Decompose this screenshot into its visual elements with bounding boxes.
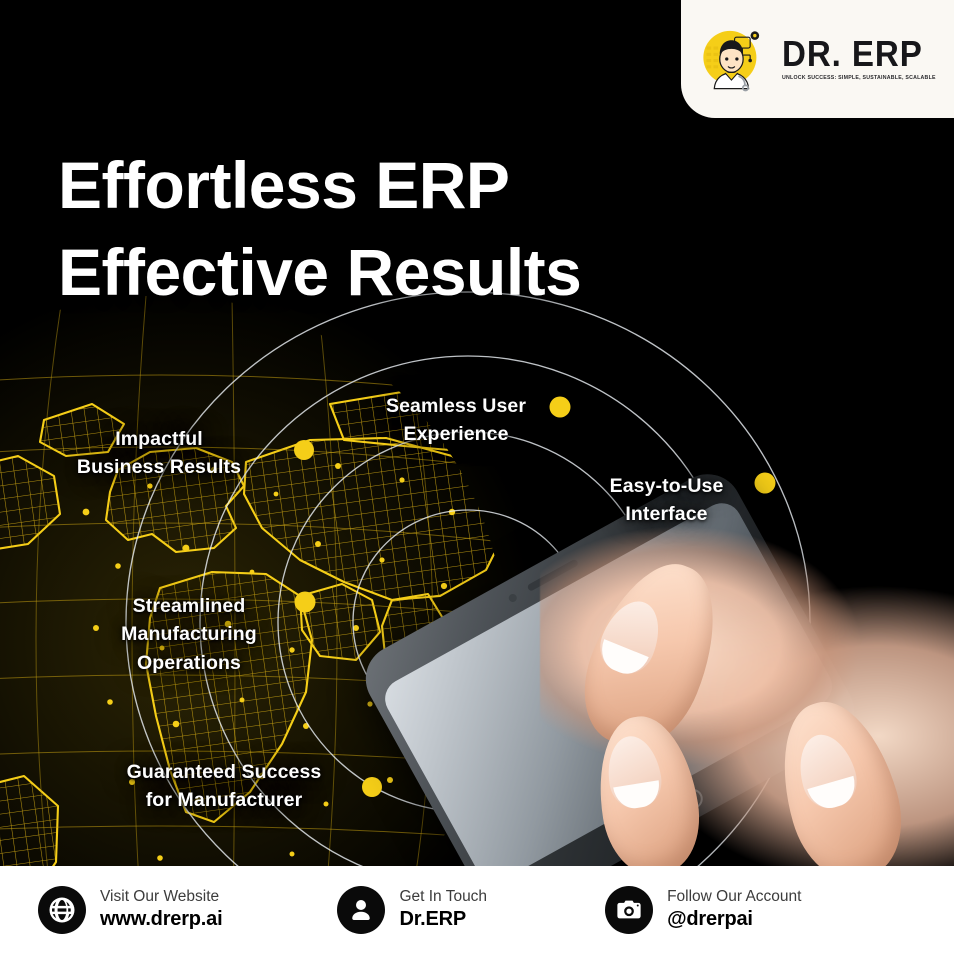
headline-line-2: Effective Results [58,229,581,316]
footer-value: www.drerp.ai [100,907,222,931]
feature-label-guaranteed-success-for-manufacturer: Guaranteed Success for Manufacturer [110,758,338,815]
logo-badge[interactable]: DR. ERP UNLOCK SUCCESS: SIMPLE, SUSTAINA… [681,0,954,118]
node-seamless-user-experience [550,397,571,418]
logo-tagline: UNLOCK SUCCESS: SIMPLE, SUSTAINABLE, SCA… [782,75,936,81]
feature-line: Impactful [64,425,254,453]
feature-line: Streamlined [108,592,270,620]
footer-item-contact[interactable]: Get In Touch Dr.ERP [337,886,487,934]
footer-label: Visit Our Website [100,888,222,907]
footer-label: Follow Our Account [667,888,801,907]
footer-item-social[interactable]: Follow Our Account @drerpai [605,886,801,934]
logo-wordmark: DR. ERP [782,37,923,71]
feature-line: Business Results [64,453,254,481]
footer-value: @drerpai [667,907,801,931]
globe-icon [38,886,86,934]
headline: Effortless ERP Effective Results [58,142,581,316]
person-icon [337,886,385,934]
footer-text-website: Visit Our Website www.drerp.ai [100,888,222,931]
feature-line: Operations [108,649,270,677]
feature-line: Easy-to-Use [599,472,734,500]
logo-text-block: DR. ERP UNLOCK SUCCESS: SIMPLE, SUSTAINA… [782,37,941,80]
node-guaranteed-success [362,777,382,797]
camera-icon [605,886,653,934]
footer-text-contact: Get In Touch Dr.ERP [399,888,487,931]
node-easy-to-use-interface [755,473,776,494]
feature-line: for Manufacturer [110,786,338,814]
contact-footer: Visit Our Website www.drerp.ai Get In To… [0,866,954,954]
dr-erp-doctor-mascot-icon [694,23,772,95]
feature-label-easy-to-use-interface: Easy-to-Use Interface [599,472,734,529]
feature-label-streamlined-manufacturing-operations: Streamlined Manufacturing Operations [108,592,270,677]
feature-line: Experience [386,420,526,448]
footer-label: Get In Touch [399,888,487,907]
feature-label-seamless-user-experience: Seamless User Experience [386,392,526,449]
feature-line: Manufacturing [108,620,270,648]
promotional-poster: Effortless ERP Effective Results Seamles… [0,0,954,954]
feature-label-impactful-business-results: Impactful Business Results [64,425,254,482]
headline-line-1: Effortless ERP [58,142,581,229]
node-impactful-business-results [294,440,314,460]
footer-item-website[interactable]: Visit Our Website www.drerp.ai [38,886,222,934]
feature-line: Interface [599,500,734,528]
footer-text-social: Follow Our Account @drerpai [667,888,801,931]
feature-line: Guaranteed Success [110,758,338,786]
footer-value: Dr.ERP [399,907,487,931]
node-streamlined-manufacturing [295,592,316,613]
feature-line: Seamless User [386,392,526,420]
